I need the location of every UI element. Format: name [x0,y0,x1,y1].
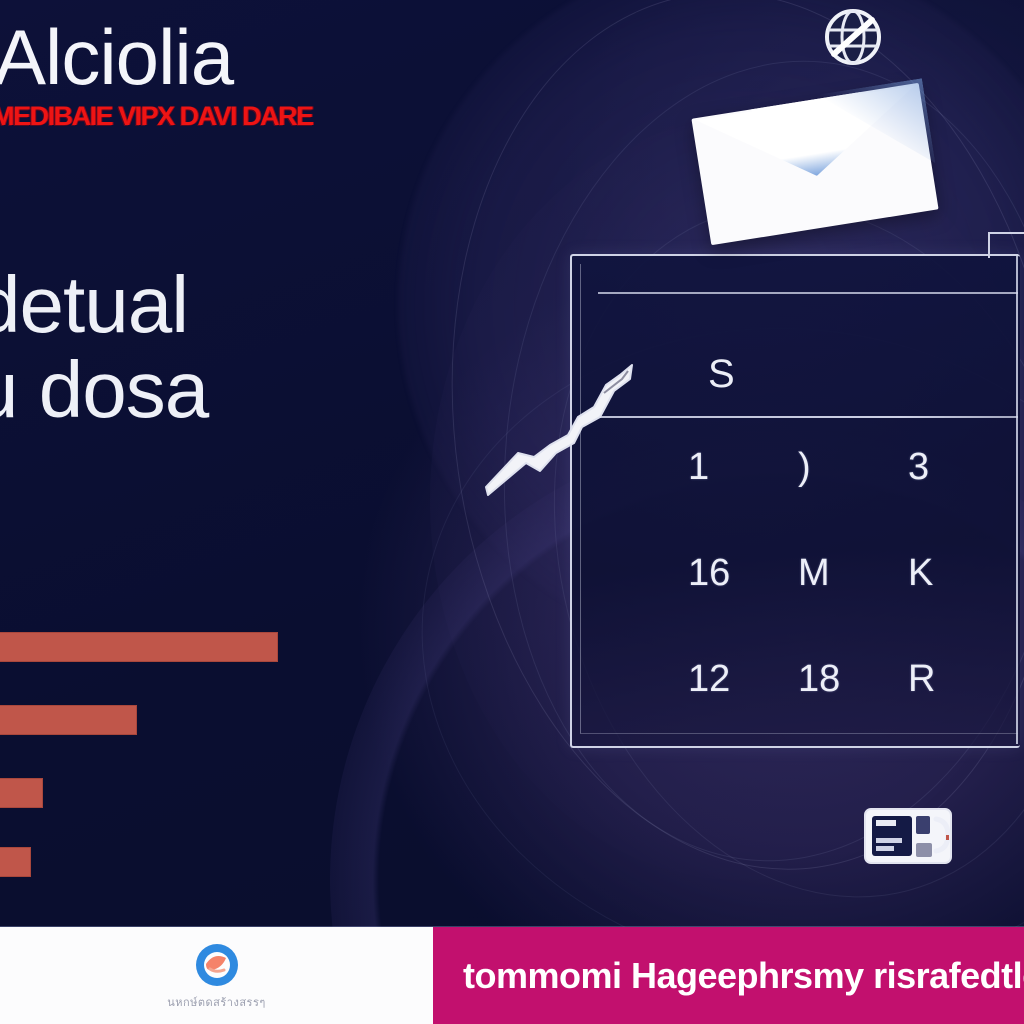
chart-bar [0,632,278,662]
headline-line-1: detual [0,265,188,345]
grid-cell[interactable]: M [798,554,908,592]
bottom-banner-text: tommomi Hageephrsmy risrafedtlon [463,958,1024,994]
device-panel[interactable]: S 1 ) 3 16 M K 12 18 R 20 TT X [570,232,1024,752]
grid-cell[interactable]: 18 [798,660,908,698]
grid-cell[interactable]: 16 [688,554,798,592]
grid-cell[interactable]: 12 [688,660,798,698]
chart-bar [0,705,137,735]
grid-cell[interactable]: 1 [688,448,798,486]
partner-logo-icon [194,942,240,988]
bottom-bar: นหกษ์ตดสร้างสรรๆ tommomi Hageephrsmy ris… [0,926,1024,1024]
brand-subtitle: MEDIBAIE VIPX DAVI DARE [0,103,313,130]
headline-line-2: u dosa [0,350,208,430]
grid-cell[interactable]: ) [798,448,908,486]
grid-cell[interactable]: 3 [908,448,1018,486]
chart-bar [0,847,31,877]
brand-title: Alciolia [0,18,233,96]
device-widget-icon [862,805,962,867]
horizontal-bar-chart [0,620,330,900]
screenshot-stage: Alciolia MEDIBAIE VIPX DAVI DARE detual … [0,0,1024,1024]
grid-cell[interactable]: R [908,660,1018,698]
panel-top-divider [598,292,1018,294]
panel-notch [988,232,1024,258]
globe-slash-icon [822,6,884,68]
panel-header-divider [588,416,1018,418]
panel-header-label: S [708,354,735,394]
bottom-left-panel: นหกษ์ตดสร้างสรรๆ [0,927,433,1024]
grid-cell[interactable]: K [908,554,1018,592]
panel-grid: 1 ) 3 16 M K 12 18 R 20 TT X [688,448,1018,723]
panel-screen: S 1 ) 3 16 M K 12 18 R 20 TT X [588,268,1018,723]
bottom-banner: tommomi Hageephrsmy risrafedtlon [433,927,1024,1024]
chart-bar [0,778,43,808]
partner-logo-caption: นหกษ์ตดสร้างสรรๆ [167,993,266,1011]
